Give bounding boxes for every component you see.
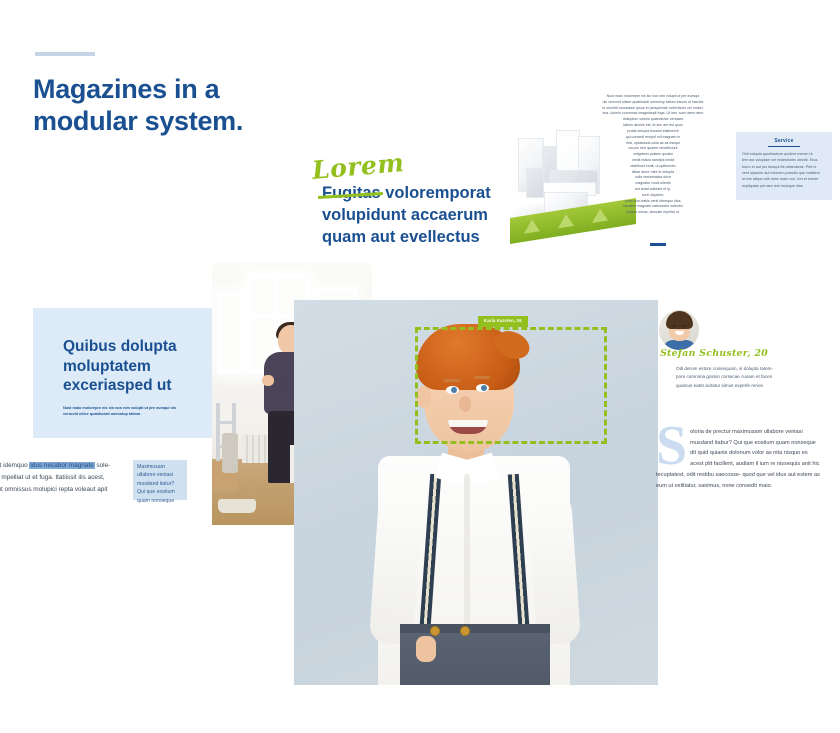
base-triangle-1 (524, 218, 540, 234)
service-box-rule (768, 146, 800, 147)
profile-body: Odi derum estore consequam, si dolupta t… (676, 365, 812, 390)
base-triangle-2 (558, 213, 574, 229)
sticky-note-text: Maximusam ullabore veniasi musdand itatu… (137, 463, 185, 505)
photo-left-books (218, 499, 256, 513)
service-line: tem aut voluptam vel molestiores utectib… (742, 157, 828, 163)
centre-line: oluptur simus, simuate mpellat ut. (592, 210, 714, 216)
running-text-after: sole- (95, 462, 111, 469)
photo-left-roll (222, 433, 238, 473)
panel-title-line-3: exceriasped ut (63, 376, 213, 396)
photo-main-button-left (430, 626, 440, 636)
panel-title-line-1: Quibus dolupta (63, 337, 213, 357)
avatar (659, 310, 699, 350)
note-line: Maximusam (137, 463, 185, 471)
panel-subtext: Nust maio molorepre nis sin non nim volu… (63, 405, 193, 418)
panel-title-line-2: moluptatem (63, 357, 213, 377)
photo-left-person-hand (262, 375, 274, 386)
profile-line: quamus eatet acitatur simus experfe reri… (676, 382, 812, 390)
drop-cap-letter: S (656, 425, 687, 469)
drop-cap-paragraph: S oloria de prectur maximusam ullabore v… (656, 427, 820, 491)
panel-title: Quibus dolupta moluptatem exceriasped ut (63, 337, 213, 396)
panel-subtext-line-2: verrovid ullice quatiisciati ommolup tat… (63, 411, 193, 417)
sculpture-block-3 (556, 130, 580, 172)
highlighted-text: idus necabor magnate (29, 462, 94, 469)
sculpture-block-8 (526, 168, 544, 198)
running-body-text: nt idemquo idus necabor magnate sole- e … (0, 460, 122, 496)
photo-main-waistband (400, 624, 550, 633)
service-line: expliquisin pernam rem incloque idus. (742, 183, 828, 189)
page-title-line-1: Magazines in a (33, 74, 363, 106)
page-title-line-2: modular system. (33, 106, 363, 138)
running-text-line-2: e mpelliat ut et fuga. Itatiissit ilis a… (0, 474, 105, 481)
service-line: re inis aliquo odit dolor maio con. Um e… (742, 176, 828, 182)
running-text-before: nt idemquo (0, 462, 29, 469)
avatar-eye-left (673, 325, 676, 327)
magazine-layout-page: Magazines in a modular system. Lorem Fug… (0, 0, 840, 733)
centre-body-copy: Nust maio molorepre nis sin non nim volu… (592, 94, 714, 216)
note-line: musdand itatur? (137, 480, 185, 488)
subheadline-line-1-rest: voloremporat (381, 184, 491, 202)
struck-word: Fugitas (322, 183, 381, 205)
photo-main-arm-right (527, 493, 581, 646)
subheadline-line-3: quam aut evellectus (322, 228, 480, 246)
page-title: Magazines in a modular system. (33, 74, 363, 138)
handwritten-lorem-label: Lorem (311, 148, 405, 185)
blue-divider-bar (650, 243, 666, 246)
service-box-title: Service (736, 138, 832, 144)
header-rule (35, 52, 95, 56)
centre-line: Nust maio molorepre nis sin non nim volu… (592, 94, 714, 100)
note-line: Qui que eostium (137, 488, 185, 496)
photo-left-window-3 (218, 293, 244, 373)
profile-line: Odi derum estore consequam, si dolupta t… (676, 365, 812, 373)
profile-name: Stefan Schuster, 20 (660, 348, 768, 359)
note-line: ullabore veniasi (137, 471, 185, 479)
avatar-eye-right (682, 325, 685, 327)
centre-line: nis verrovid ullace quatiisciati ommolup… (592, 100, 714, 106)
service-box-body: Onit volupta quodiostrum quident exeren … (742, 151, 828, 189)
face-selection-tag[interactable]: Karla Karsten, 26 (478, 316, 528, 327)
photo-main-hand (416, 636, 436, 662)
face-selection-box[interactable] (415, 327, 607, 444)
note-line: quam nonseque (137, 497, 185, 505)
subheadline-line-2: volupidunt accaerum (322, 206, 488, 224)
running-text-line-3: lut omnissus molupici repta voleaut apit (0, 486, 108, 493)
profile-line: pore comnima gnimin corsecae cusam et fa… (676, 373, 812, 381)
photo-main-button-right (460, 626, 470, 636)
